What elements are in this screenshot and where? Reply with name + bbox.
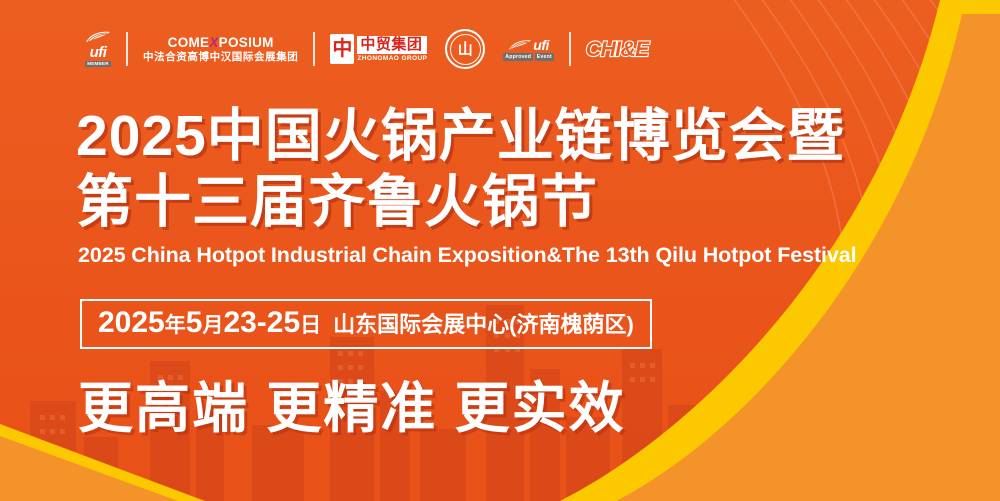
chie-logo: CHI&E	[577, 26, 658, 72]
comexposium-word-post: POSIUM	[219, 35, 274, 50]
comexposium-chinese-name: 中法合资高博中汉国际会展集团	[143, 52, 298, 63]
event-year: 2025	[98, 306, 165, 339]
partner-logo-strip: ufi MEMBER COMEXPOSIUM 中法合资高博中汉国际会展集团 中 …	[76, 26, 658, 72]
zhongmao-group-logo: 中 中贸集团 ZHONGMAO GROUP	[321, 26, 436, 72]
zhongmao-english-name: ZHONGMAO GROUP	[357, 56, 427, 63]
event-date: 2025年5月23-25日	[98, 307, 321, 339]
ufi-approved-leaf-icon	[508, 39, 532, 52]
event-year-unit: 年	[165, 314, 186, 337]
comexposium-wordmark: COMEXPOSIUM	[168, 36, 274, 50]
comexposium-word-pre: COME	[168, 35, 210, 50]
event-days: 23-25	[223, 306, 300, 339]
zhongmao-chinese-name: 中贸集团	[357, 36, 427, 55]
event-month-unit: 月	[202, 314, 223, 337]
exhibition-banner: ufi MEMBER COMEXPOSIUM 中法合资高博中汉国际会展集团 中 …	[0, 0, 1000, 501]
chie-wordmark: CHI&E	[586, 39, 649, 60]
event-subtitle-english: 2025 China Hotpot Industrial Chain Expos…	[78, 244, 857, 268]
logo-divider	[569, 32, 571, 66]
comexposium-x-glyph: X	[209, 35, 218, 50]
ufi-approved-line1: Approved	[503, 53, 533, 61]
ufi-leaf-icon	[85, 31, 111, 44]
ufi-approved-sublabel: Approved Event	[503, 53, 554, 61]
event-title-line1: 2025中国火锅产业链博览会暨	[76, 104, 845, 168]
event-title-line2: 第十三届齐鲁火锅节	[76, 170, 845, 236]
date-venue-box: 2025年5月23-25日 山东国际会展中心(济南槐荫区)	[80, 299, 652, 349]
ufi-member-logo: ufi MEMBER	[76, 26, 120, 72]
seal-ring: 山	[445, 29, 485, 69]
ufi-wordmark: ufi	[90, 45, 107, 60]
event-title: 2025中国火锅产业链博览会暨 第十三届齐鲁火锅节	[76, 104, 845, 235]
ufi-approved-line2: Event	[535, 53, 554, 61]
event-day-unit: 日	[300, 314, 321, 337]
ufi-member-label: MEMBER	[85, 61, 111, 67]
seal-glyph: 山	[458, 42, 473, 57]
zhongmao-emblem-icon: 中	[330, 34, 354, 64]
event-slogan: 更高端 更精准 更实效	[78, 378, 626, 439]
event-venue: 山东国际会展中心(济南槐荫区)	[333, 313, 634, 336]
logo-divider	[126, 32, 128, 66]
event-month: 5	[186, 306, 203, 339]
logo-divider	[313, 32, 315, 66]
comexposium-logo: COMEXPOSIUM 中法合资高博中汉国际会展集团	[134, 26, 307, 72]
ufi-approved-event-logo: ufi Approved Event	[494, 26, 563, 72]
shandong-seal-logo: 山	[436, 26, 494, 72]
ufi-approved-wordmark: ufi	[533, 38, 549, 52]
